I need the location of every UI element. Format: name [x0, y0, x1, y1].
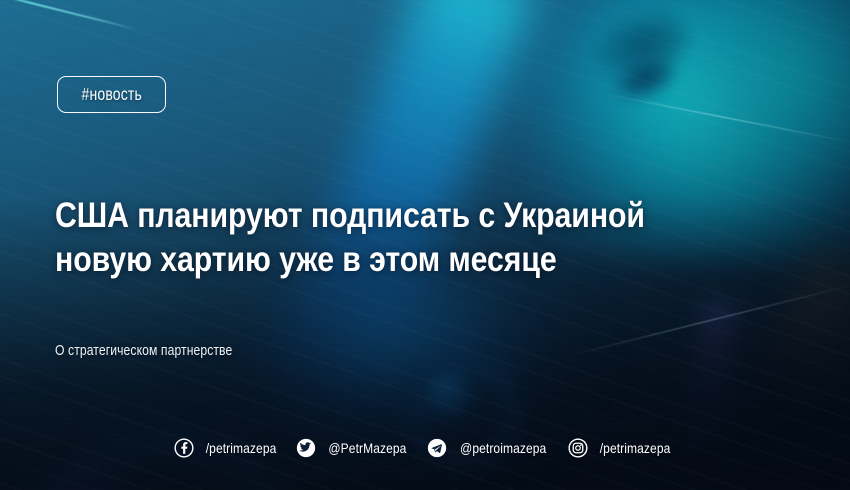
telegram-handle: @petroimazepa — [460, 440, 546, 456]
tag-badge-label: #новость — [81, 84, 141, 105]
headline: США планируют подписать с Украиной новую… — [55, 194, 686, 282]
twitter-handle: @PetrMazepa — [329, 440, 407, 456]
tag-badge[interactable]: #новость — [57, 76, 166, 113]
instagram-handle: /petrimazepa — [599, 440, 670, 456]
social-link-instagram[interactable]: /petrimazepa — [568, 438, 676, 458]
social-link-twitter[interactable]: @PetrMazepa — [296, 438, 413, 458]
social-link-telegram[interactable]: @petroimazepa — [427, 438, 553, 458]
news-card: #новость США планируют подписать с Украи… — [0, 0, 850, 490]
facebook-handle: /petrimazepa — [206, 440, 277, 456]
social-footer: /petrimazepa @PetrMazepa @petroimazepa — [0, 434, 850, 462]
telegram-icon — [427, 438, 447, 458]
subtitle: О стратегическом партнерстве — [55, 343, 232, 359]
facebook-icon — [174, 438, 194, 458]
social-link-facebook[interactable]: /petrimazepa — [174, 438, 282, 458]
twitter-icon — [296, 438, 316, 458]
instagram-icon — [568, 438, 588, 458]
